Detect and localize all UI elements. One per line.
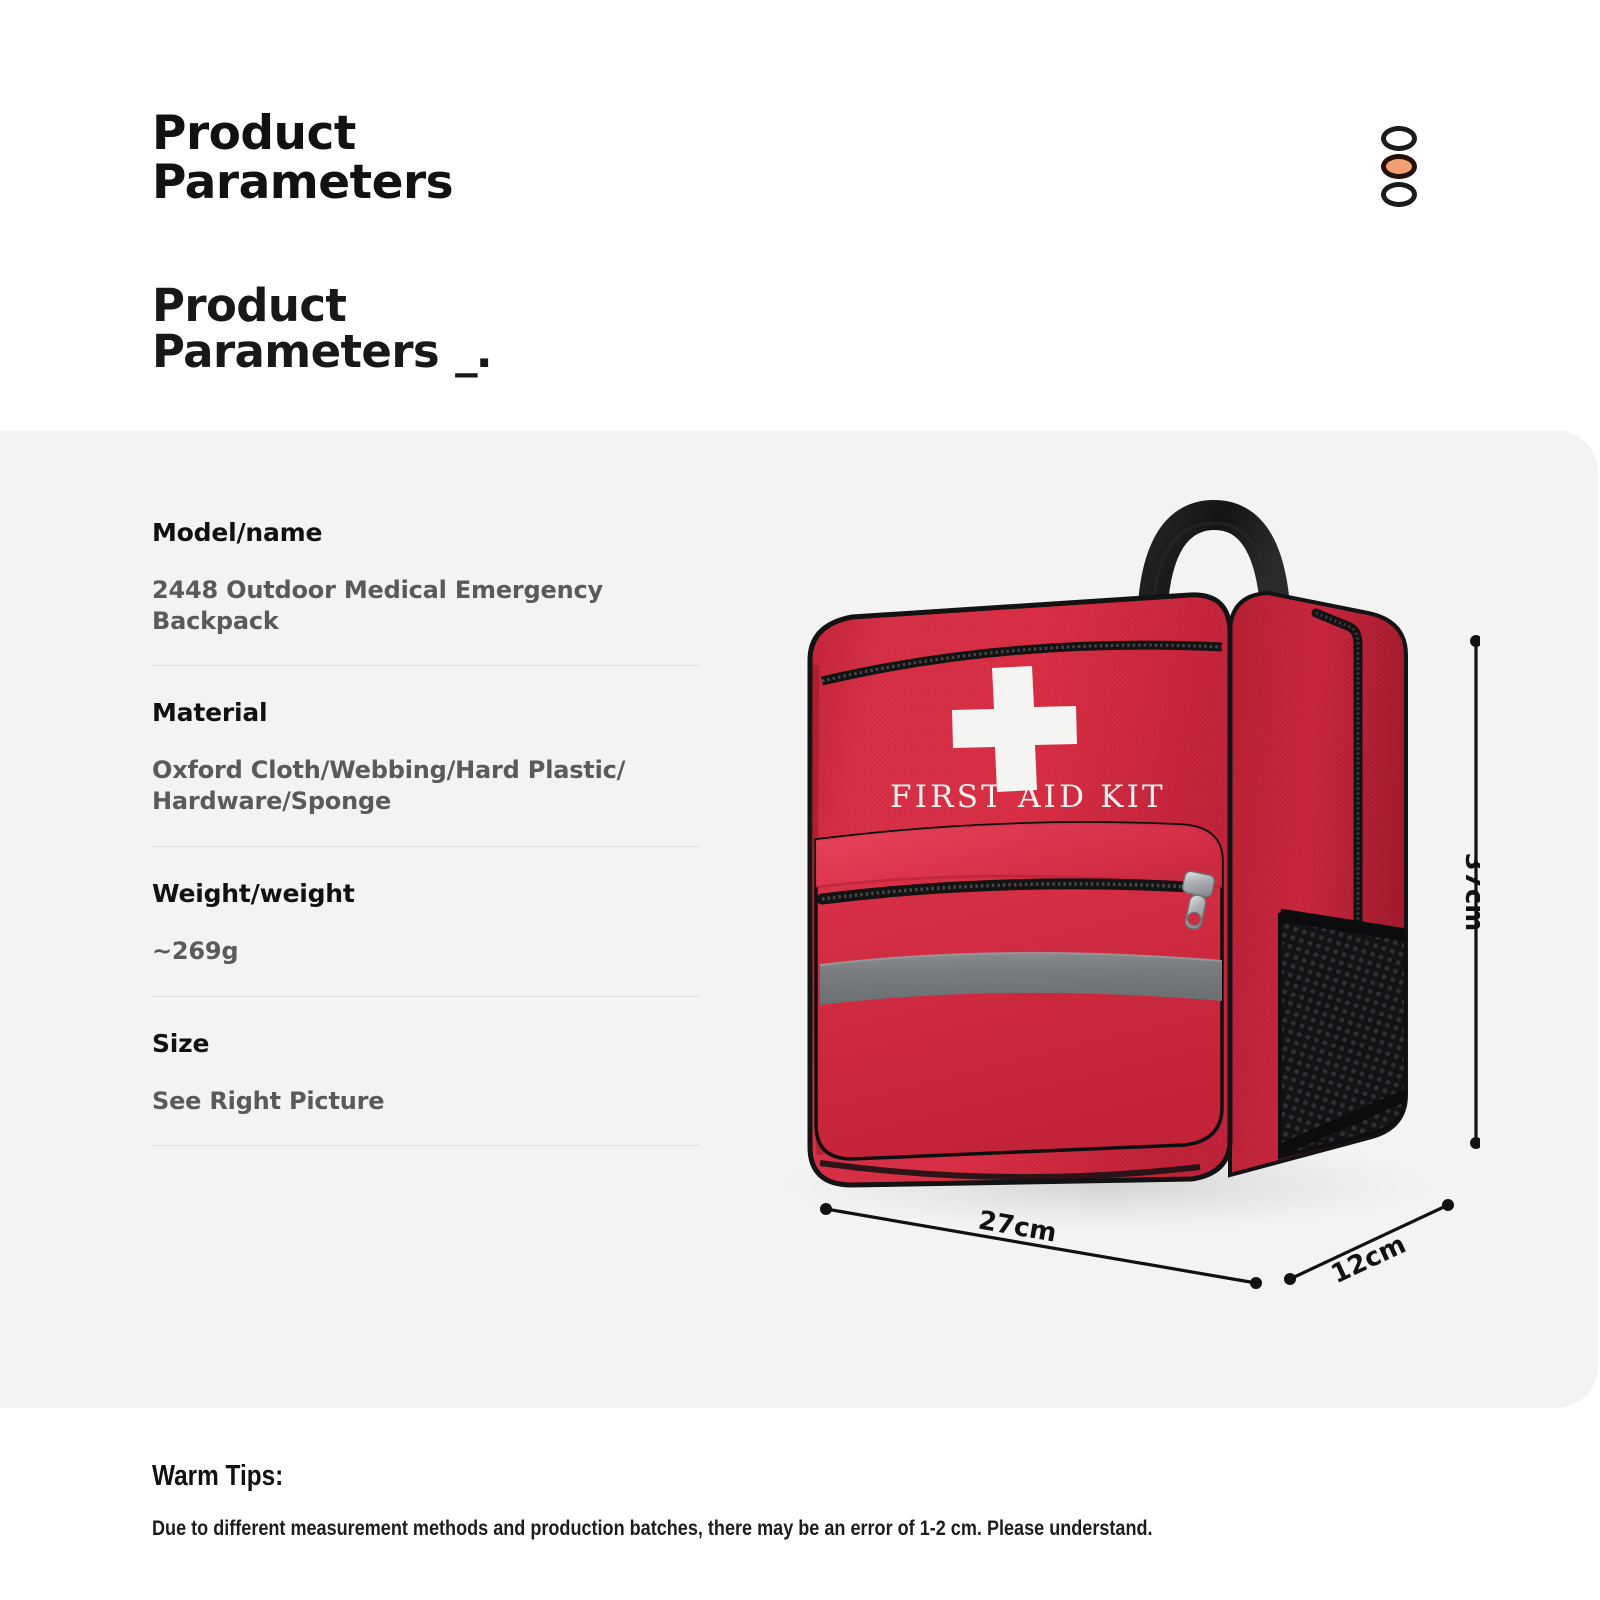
page-title-primary: Product Parameters: [152, 110, 1052, 208]
spec-value-material: Oxford Cloth/Webbing/Hard Plastic/ Hardw…: [152, 755, 712, 816]
spec-label-size: Size: [152, 1029, 712, 1058]
page-title-secondary-text: Product Parameters: [152, 279, 439, 379]
ring-outline-icon: [1381, 126, 1417, 151]
page-header: Product Parameters Product Parameters_.: [152, 110, 1052, 376]
spec-value-weight: ~269g: [152, 936, 712, 967]
dimension-label-height: 37cm: [1459, 853, 1480, 932]
ring-filled-icon: [1381, 154, 1417, 179]
page-title-secondary: Product Parameters_.: [152, 236, 1052, 376]
ring-decoration: [1381, 126, 1423, 210]
row-divider: [152, 1145, 700, 1146]
page-title-secondary-tail: _.: [455, 329, 491, 376]
table-row: Model/name 2448 Outdoor Medical Emergenc…: [152, 518, 712, 666]
spec-table: Model/name 2448 Outdoor Medical Emergenc…: [152, 518, 712, 1146]
spec-value-size: See Right Picture: [152, 1086, 712, 1117]
dimension-label-depth: 12cm: [1327, 1230, 1411, 1290]
warm-tips-title: Warm Tips:: [152, 1460, 1244, 1493]
spec-label-model: Model/name: [152, 518, 712, 547]
spec-label-weight: Weight/weight: [152, 879, 712, 908]
table-row: Material Oxford Cloth/Webbing/Hard Plast…: [152, 666, 712, 846]
ring-outline-icon: [1381, 182, 1417, 207]
spec-label-material: Material: [152, 698, 712, 727]
bag-side-panel: [1220, 585, 1420, 1185]
table-row: Weight/weight ~269g: [152, 847, 712, 997]
product-image: FIRST AID KIT: [760, 495, 1480, 1295]
table-row: Size See Right Picture: [152, 997, 712, 1147]
warm-tips-section: Warm Tips: Due to different measurement …: [152, 1460, 1452, 1543]
brand-wordmark: FIRST AID KIT: [890, 779, 1166, 815]
spec-value-model: 2448 Outdoor Medical Emergency Backpack: [152, 575, 712, 636]
front-pocket: [816, 823, 1222, 1159]
warm-tips-body: Due to different measurement methods and…: [152, 1515, 1442, 1543]
